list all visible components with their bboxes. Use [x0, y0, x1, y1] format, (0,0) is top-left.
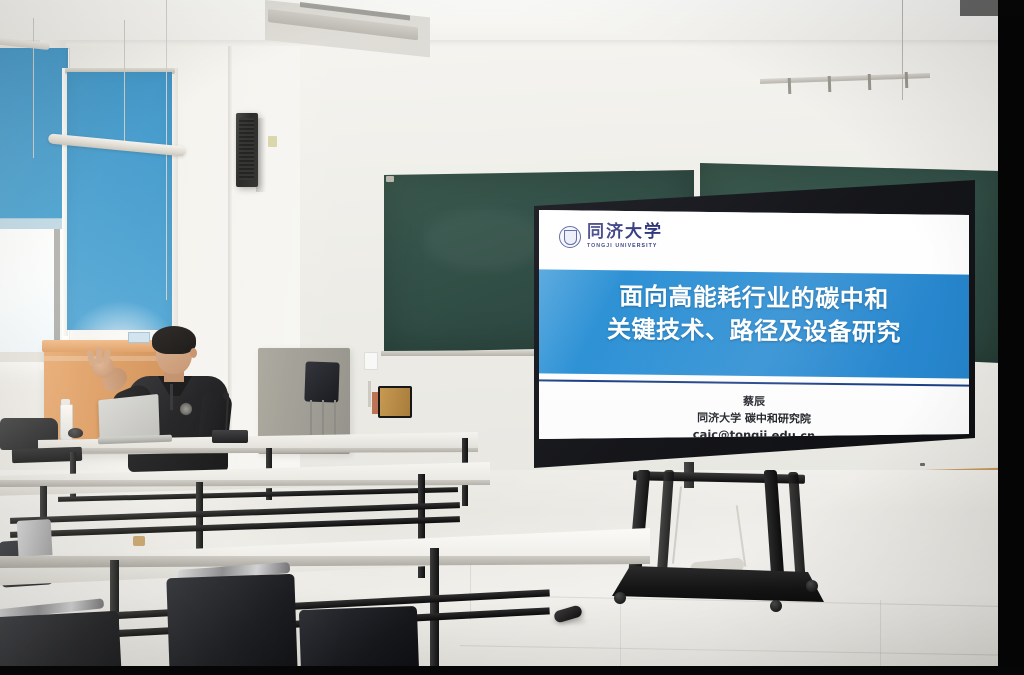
- presenter-ear: [190, 348, 197, 358]
- caster-wheel-icon: [806, 580, 818, 592]
- presenter-placket: [170, 384, 173, 410]
- blackboard-clip-icon: [386, 176, 394, 182]
- outlet-cable: [368, 381, 371, 407]
- frame-edge-top: [960, 0, 1024, 16]
- caster-wheel-icon: [770, 600, 782, 612]
- frame-edge-right: [998, 0, 1024, 675]
- tongji-seal-icon: [559, 226, 581, 248]
- frame-edge-bottom: [0, 666, 1024, 675]
- caster-wheel-icon: [614, 592, 626, 604]
- table-corner-cap: [133, 536, 145, 546]
- logo-chinese-name: 同济大学: [587, 224, 663, 241]
- rail-hook-icon: [788, 78, 792, 94]
- logo-english-name: TONGJI UNIVERSITY: [587, 243, 663, 249]
- classroom-photo: 同济大学 TONGJI UNIVERSITY 面向高能耗行业的碳中和 关键技术、…: [0, 0, 1024, 675]
- hanging-wire: [33, 18, 34, 158]
- window-blind-left-hem: [0, 218, 68, 229]
- window-left-glass: [0, 226, 62, 356]
- shirt-logo-icon: [180, 402, 192, 416]
- display-power-led-icon: [920, 463, 925, 466]
- microphone-head-icon: [223, 392, 229, 399]
- ceiling-edge: [0, 40, 1024, 45]
- hanging-wire: [902, 0, 903, 100]
- side-cabinet: [378, 386, 412, 418]
- display-panel: 同济大学 TONGJI UNIVERSITY 面向高能耗行业的碳中和 关键技术、…: [539, 210, 969, 439]
- student-chair[interactable]: [304, 361, 339, 402]
- wall-outlet[interactable]: [364, 352, 378, 370]
- student-chair[interactable]: [166, 574, 297, 675]
- computer-mouse[interactable]: [68, 428, 83, 438]
- water-bottle-cap: [61, 399, 70, 405]
- hanging-wire: [124, 20, 125, 142]
- rail-hook-icon: [868, 74, 872, 90]
- window-mullion: [54, 226, 60, 358]
- table-leg: [430, 548, 439, 675]
- slide-divider: [539, 379, 969, 386]
- slide-subtitle: 蔡辰 同济大学 碳中和研究院 caic@tongji.edu.cn: [539, 391, 969, 439]
- slide-title-line-1: 面向高能耗行业的碳中和: [539, 279, 969, 317]
- display-screen[interactable]: 同济大学 TONGJI UNIVERSITY 面向高能耗行业的碳中和 关键技术、…: [527, 180, 975, 468]
- student-chair[interactable]: [299, 606, 419, 675]
- window-blind-right[interactable]: [67, 72, 172, 330]
- microphone[interactable]: [212, 430, 248, 443]
- slide-title: 面向高能耗行业的碳中和 关键技术、路径及设备研究: [539, 279, 969, 350]
- slide-title-line-2: 关键技术、路径及设备研究: [539, 312, 969, 350]
- rail-hook-icon: [828, 76, 832, 92]
- speaker-grille-icon: [239, 118, 254, 180]
- rail-hook-icon: [905, 72, 909, 88]
- presentation-slide: 同济大学 TONGJI UNIVERSITY 面向高能耗行业的碳中和 关键技术、…: [539, 210, 969, 439]
- university-logo: 同济大学 TONGJI UNIVERSITY: [559, 224, 663, 249]
- wall-sensor-icon: [268, 136, 277, 147]
